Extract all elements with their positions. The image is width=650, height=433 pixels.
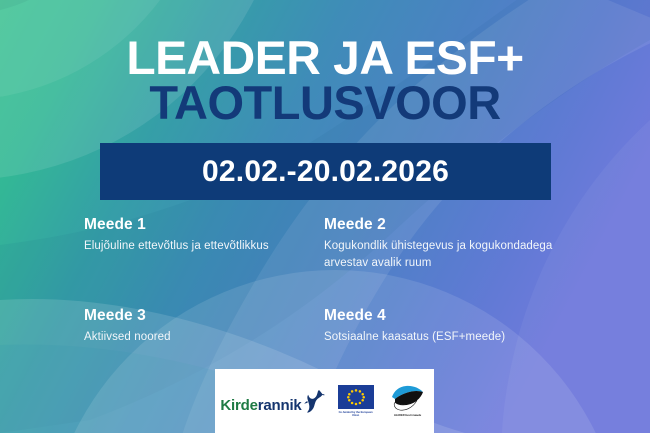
logo-bar: Kirde rannik [215,369,434,433]
eu-funding-caption: Co-funded by the European Union [336,411,376,417]
application-period-text: 02.02.-20.02.2026 [202,155,449,189]
measure-4-title: Meede 4 [324,307,584,325]
measure-1-title: Meede 1 [84,216,316,234]
kirderannik-logo-text-green: Kirde [220,397,257,414]
headline-line-1: LEADER JA ESF+ [0,36,650,79]
eu-funding-logo: Co-funded by the European Union [336,385,376,417]
measure-item-4: Meede 4 Sotsiaalne kaasatus (ESF+meede) [324,307,584,346]
eu-flag-icon [338,385,374,409]
measures-row-bottom: Meede 3 Aktiivsed noored Meede 4 Sotsiaa… [84,307,584,346]
measure-item-2: Meede 2 Kogukondlik ühistegevus ja koguk… [324,216,584,271]
measure-2-title: Meede 2 [324,216,584,234]
kirderannik-logo-text-blue: rannik [258,397,302,414]
estonia-leader-caption: LEADER Eesti maaelu [387,414,429,417]
estonia-bird-icon [389,385,427,413]
headline-line-2: TAOTLUSVOOR [0,81,650,124]
kirderannik-logo: Kirde rannik [220,389,324,414]
measure-item-1: Meede 1 Elujõuline ettevõtlus ja ettevõt… [84,216,316,271]
date-band: 02.02.-20.02.2026 [100,143,551,200]
measure-item-3: Meede 3 Aktiivsed noored [84,307,316,346]
measure-1-description: Elujõuline ettevõtlus ja ettevõtlikkus [84,238,316,255]
estonia-leader-logo: LEADER Eesti maaelu [387,385,429,417]
measures-row-top: Meede 1 Elujõuline ettevõtlus ja ettevõt… [84,216,584,271]
measure-3-description: Aktiivsed noored [84,329,316,346]
measure-4-description: Sotsiaalne kaasatus (ESF+meede) [324,329,584,346]
promotional-banner: LEADER JA ESF+ TAOTLUSVOOR 02.02.-20.02.… [0,0,650,433]
headline: LEADER JA ESF+ TAOTLUSVOOR [0,36,650,124]
bird-mark-icon [303,389,325,413]
measures-list: Meede 1 Elujõuline ettevõtlus ja ettevõt… [84,216,584,346]
measure-2-description: Kogukondlik ühistegevus ja kogukondadega… [324,238,584,271]
measure-3-title: Meede 3 [84,307,316,325]
